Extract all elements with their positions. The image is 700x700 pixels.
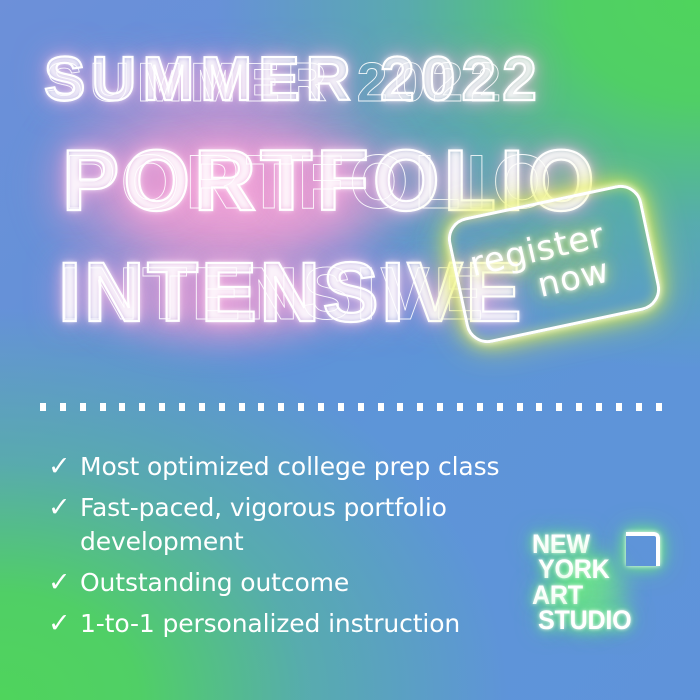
divider-dot — [517, 403, 523, 411]
check-icon: ✓ — [44, 607, 80, 641]
divider-dot — [258, 403, 264, 411]
divider-dot — [219, 403, 225, 411]
divider-dot — [338, 403, 344, 411]
divider-dot — [239, 403, 245, 411]
feature-item: ✓Fast-paced, vigorous portfolio developm… — [44, 491, 584, 559]
feature-label: 1-to-1 personalized instruction — [80, 607, 460, 641]
divider-dot — [437, 403, 443, 411]
divider-dot — [60, 403, 66, 411]
divider-dot — [199, 403, 205, 411]
divider-dot — [417, 403, 423, 411]
feature-label: Most optimized college prep class — [80, 450, 499, 484]
divider-dot — [139, 403, 145, 411]
divider-dot — [556, 403, 562, 411]
divider-dot — [536, 403, 542, 411]
divider-dot — [378, 403, 384, 411]
check-icon: ✓ — [44, 450, 80, 484]
divider-dot — [80, 403, 86, 411]
divider-dot — [397, 403, 403, 411]
check-icon: ✓ — [44, 491, 80, 525]
divider-dot — [278, 403, 284, 411]
divider-dot — [159, 403, 165, 411]
check-icon: ✓ — [44, 566, 80, 600]
divider-dot — [636, 403, 642, 411]
divider-dot — [497, 403, 503, 411]
register-now-badge[interactable]: register now — [444, 181, 664, 347]
divider-dot — [298, 403, 304, 411]
divider-dot — [596, 403, 602, 411]
feature-item: ✓1-to-1 personalized instruction — [44, 607, 584, 641]
divider-dot — [477, 403, 483, 411]
pink-glow-haze — [10, 18, 470, 368]
feature-item: ✓Most optimized college prep class — [44, 450, 584, 484]
divider-dot — [457, 403, 463, 411]
divider-dot — [616, 403, 622, 411]
divider-dot — [358, 403, 364, 411]
feature-label: Fast-paced, vigorous portfolio developme… — [80, 491, 500, 559]
headline-line-summer: SUMMER 2022 — [44, 44, 700, 115]
divider-dot — [100, 403, 106, 411]
divider-dot — [318, 403, 324, 411]
pink-glow-haze-portfolio — [40, 120, 460, 280]
badge-text: register now — [444, 181, 664, 347]
feature-item: ✓Outstanding outcome — [44, 566, 584, 600]
dotted-divider — [40, 402, 662, 411]
feature-label: Outstanding outcome — [80, 566, 349, 600]
corner-bracket-icon — [626, 532, 660, 566]
divider-dot — [656, 403, 662, 411]
logo-line-studio: STUDIO — [538, 608, 638, 633]
divider-dot — [179, 403, 185, 411]
divider-dot — [40, 403, 46, 411]
divider-dot — [576, 403, 582, 411]
divider-dot — [119, 403, 125, 411]
poster-canvas: SUMMER 2022 SUMMER 2022 PORTFOLIO PORTFO… — [0, 0, 700, 700]
pink-glow-haze-intensive — [45, 240, 395, 370]
studio-logo: NEW YORK ART STUDIO — [524, 528, 676, 652]
headline-line-summer-inner-tube: SUMMER 2022 — [46, 50, 700, 114]
feature-list: ✓Most optimized college prep class✓Fast-… — [44, 450, 584, 648]
